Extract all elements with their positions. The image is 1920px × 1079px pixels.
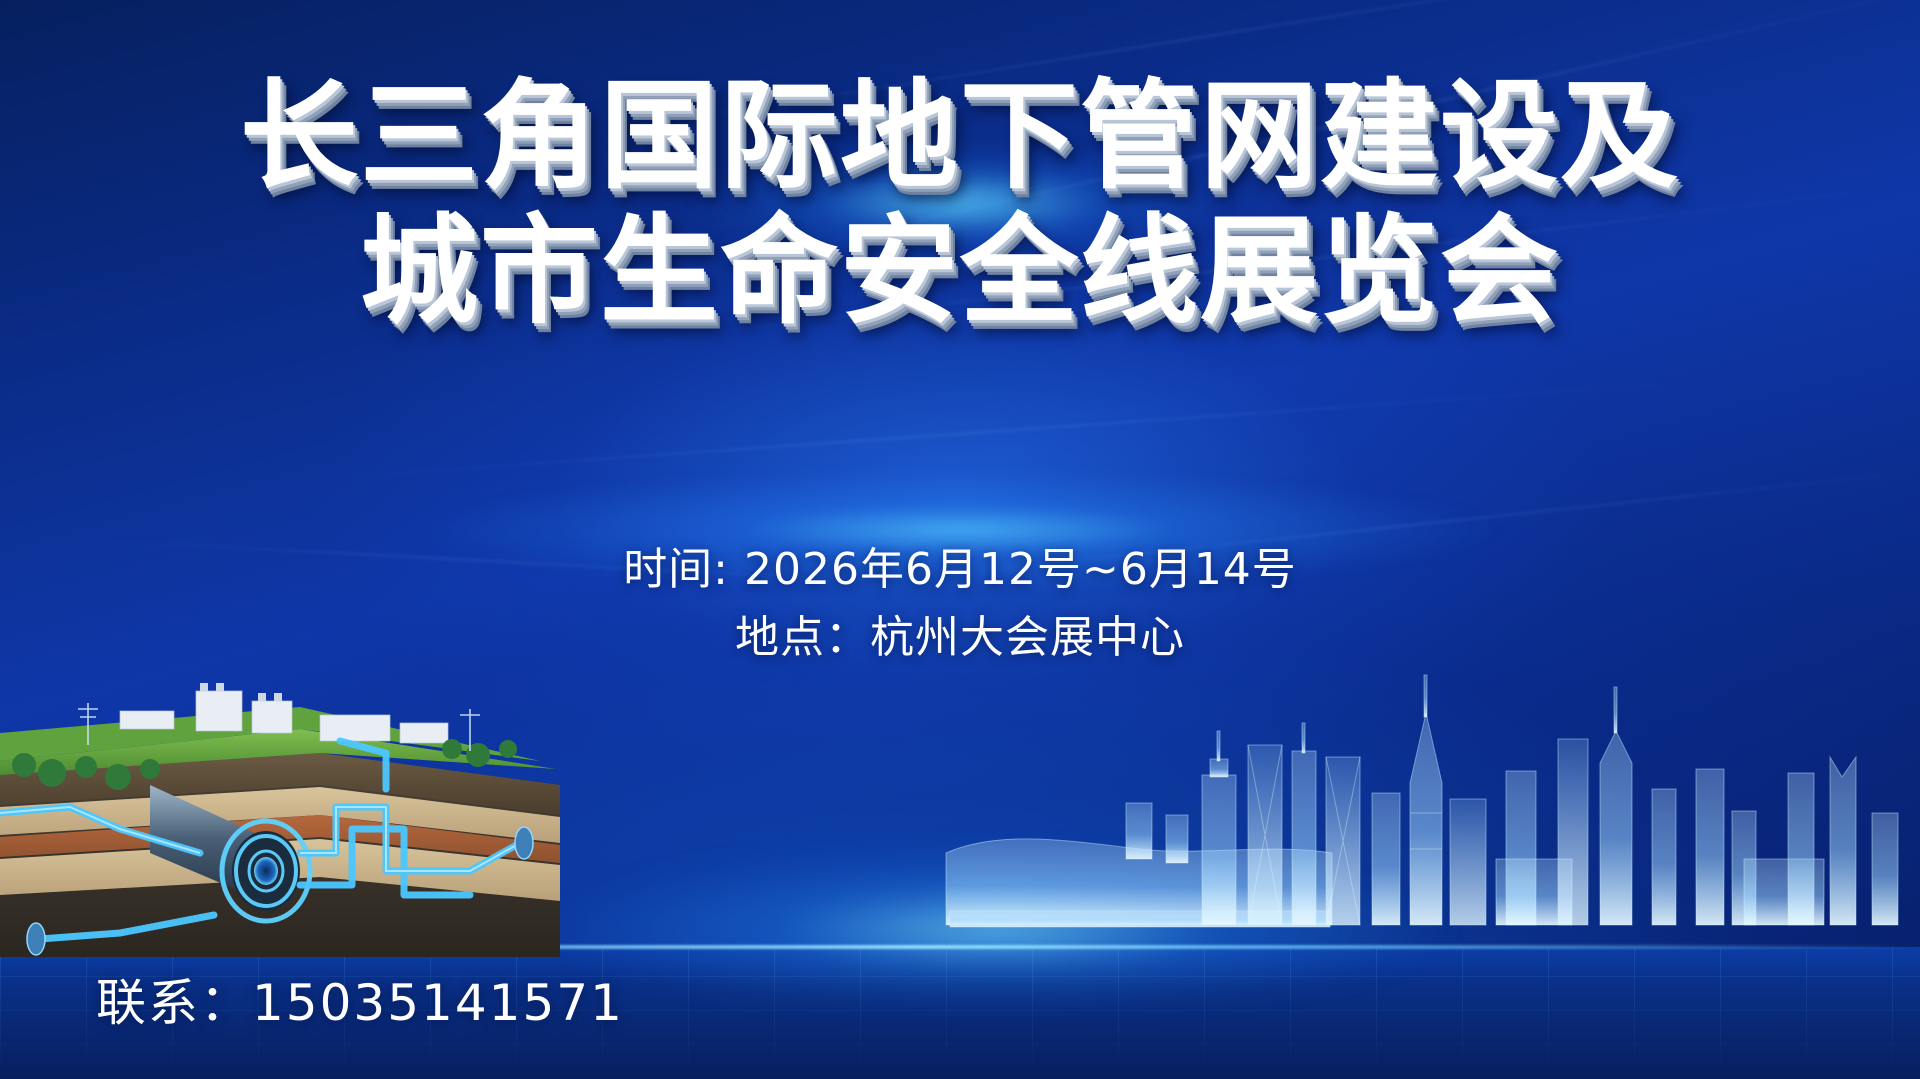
light-ray (548, 0, 1920, 141)
title-line-1: 长三角国际地下管网建设及 (0, 74, 1920, 199)
center-glow (410, 470, 1510, 590)
light-ray (716, 0, 1920, 269)
contact-line: 联系：15035141571 (96, 963, 624, 1035)
light-ray (903, 463, 1920, 580)
underground-pipe-illustration-icon (0, 657, 560, 957)
title-line-2: 城市生命安全线展览会 (0, 209, 1920, 334)
event-date: 时间: 2026年6月12号~6月14号 (0, 536, 1920, 604)
poster-title: 长三角国际地下管网建设及 城市生命安全线展览会 (0, 74, 1920, 334)
title-glow (700, 148, 1220, 258)
poster-info: 时间: 2026年6月12号~6月14号 地点：杭州大会展中心 (0, 536, 1920, 672)
city-skyline-icon (940, 653, 1920, 953)
light-ray (252, 378, 1748, 485)
exhibition-poster: 长三角国际地下管网建设及 城市生命安全线展览会 时间: 2026年6月12号~6… (0, 0, 1920, 1079)
light-ray (625, 178, 1920, 345)
light-ray (41, 536, 940, 585)
